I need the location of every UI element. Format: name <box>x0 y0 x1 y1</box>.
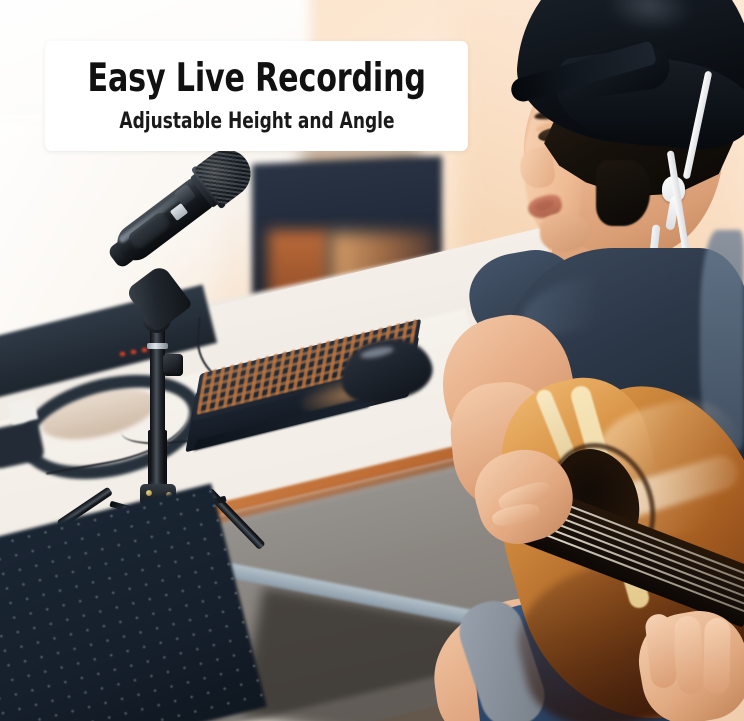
product-lifestyle-photo: Easy Live Recording Adjustable Height an… <box>0 0 744 721</box>
hair-sideburn <box>596 160 650 226</box>
headline-title: Easy Live Recording <box>87 59 425 98</box>
overlay-text-card: Easy Live Recording Adjustable Height an… <box>45 41 468 151</box>
headline-subtitle: Adjustable Height and Angle <box>119 111 394 133</box>
finger <box>674 615 704 694</box>
finger <box>703 618 730 694</box>
